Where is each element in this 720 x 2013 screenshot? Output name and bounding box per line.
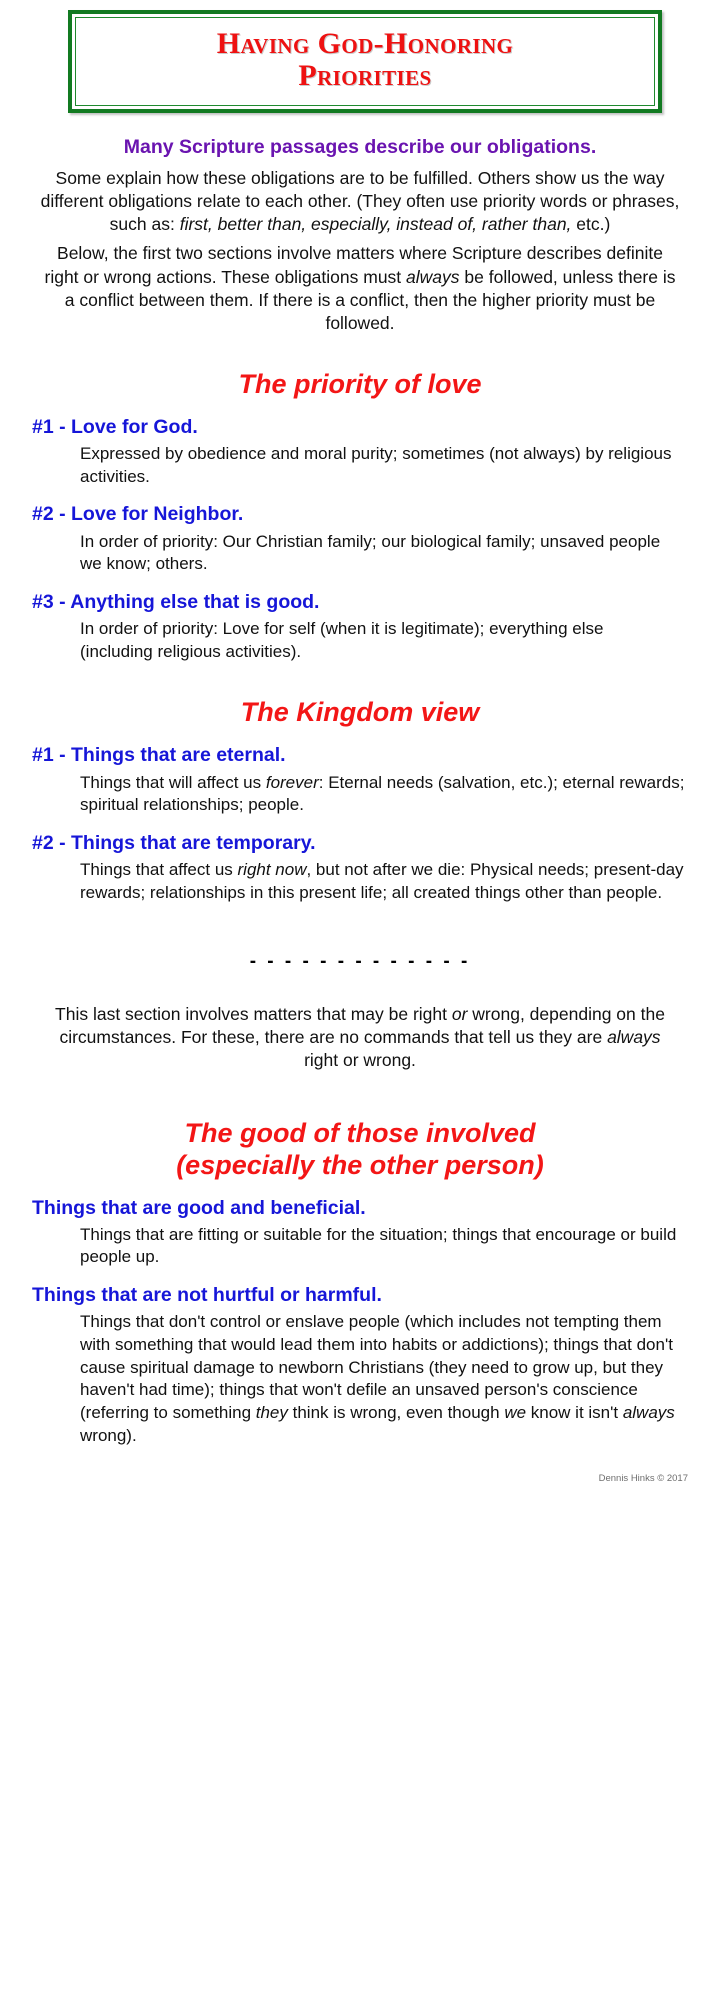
intro-subtitle: Many Scripture passages describe our obl… bbox=[34, 135, 686, 159]
item-body-not-hurtful-or-harmful: Things that don't control or enslave peo… bbox=[80, 1311, 686, 1447]
item-body-good-and-beneficial: Things that are fitting or suitable for … bbox=[80, 1224, 686, 1269]
intro-always-emphasis: always bbox=[406, 267, 460, 287]
item-body-things-eternal-part-a: Things that will affect us bbox=[80, 773, 266, 792]
intro-paragraph-1: Some explain how these obligations are t… bbox=[40, 167, 680, 236]
section-heading-good-line-1: The good of those involved bbox=[185, 1118, 536, 1148]
intro-priority-words: first, better than, especially, instead … bbox=[180, 214, 572, 234]
interlude-paragraph: This last section involves matters that … bbox=[40, 1003, 680, 1072]
page-title-line-2: Priorities bbox=[298, 59, 431, 92]
item-head-anything-else-good: #3 - Anything else that is good. bbox=[32, 590, 702, 614]
we-emphasis: we bbox=[504, 1403, 526, 1422]
footer-credit: Dennis Hinks © 2017 bbox=[18, 1473, 688, 1484]
document-page: Having God-Honoring Priorities Many Scri… bbox=[0, 10, 720, 2013]
item-body-things-eternal: Things that will affect us forever: Eter… bbox=[80, 772, 686, 817]
page-title-line-1: Having God-Honoring bbox=[217, 27, 514, 60]
not-hurtful-part-b: think is wrong, even though bbox=[288, 1403, 504, 1422]
item-head-good-and-beneficial: Things that are good and beneficial. bbox=[32, 1196, 702, 1220]
section-heading-good-of-those-involved: The good of those involved (especially t… bbox=[28, 1118, 692, 1182]
right-now-emphasis: right now bbox=[238, 860, 307, 879]
dashed-separator: - - - - - - - - - - - - - bbox=[18, 951, 702, 973]
section-heading-kingdom-view: The Kingdom view bbox=[28, 697, 692, 729]
intro-paragraph-2: Below, the first two sections involve ma… bbox=[40, 242, 680, 334]
item-body-anything-else-good: In order of priority: Love for self (whe… bbox=[80, 618, 680, 663]
title-box-inner: Having God-Honoring Priorities bbox=[75, 17, 655, 106]
interlude-part-a: This last section involves matters that … bbox=[55, 1004, 452, 1024]
title-box: Having God-Honoring Priorities bbox=[68, 10, 662, 113]
item-head-things-temporary: #2 - Things that are temporary. bbox=[32, 831, 702, 855]
always-emphasis-final: always bbox=[623, 1403, 675, 1422]
or-emphasis: or bbox=[452, 1004, 468, 1024]
they-emphasis: they bbox=[256, 1403, 288, 1422]
item-body-things-temporary-part-a: Things that affect us bbox=[80, 860, 238, 879]
item-body-love-for-god: Expressed by obedience and moral purity;… bbox=[80, 443, 680, 488]
interlude-part-c: right or wrong. bbox=[304, 1050, 416, 1070]
item-head-things-eternal: #1 - Things that are eternal. bbox=[32, 743, 702, 767]
section-heading-priority-of-love: The priority of love bbox=[28, 369, 692, 401]
item-head-love-for-neighbor: #2 - Love for Neighbor. bbox=[32, 502, 702, 526]
not-hurtful-part-c: know it isn't bbox=[526, 1403, 623, 1422]
forever-emphasis: forever bbox=[266, 773, 319, 792]
intro-paragraph-1-part-b: etc.) bbox=[571, 214, 610, 234]
not-hurtful-part-d: wrong). bbox=[80, 1426, 137, 1445]
section-heading-good-line-2: (especially the other person) bbox=[176, 1150, 544, 1180]
always-emphasis-interlude: always bbox=[607, 1027, 661, 1047]
item-body-things-temporary: Things that affect us right now, but not… bbox=[80, 859, 686, 904]
page-title: Having God-Honoring Priorities bbox=[82, 28, 648, 93]
item-head-love-for-god: #1 - Love for God. bbox=[32, 415, 702, 439]
item-head-not-hurtful-or-harmful: Things that are not hurtful or harmful. bbox=[32, 1283, 702, 1307]
item-body-love-for-neighbor: In order of priority: Our Christian fami… bbox=[80, 531, 680, 576]
